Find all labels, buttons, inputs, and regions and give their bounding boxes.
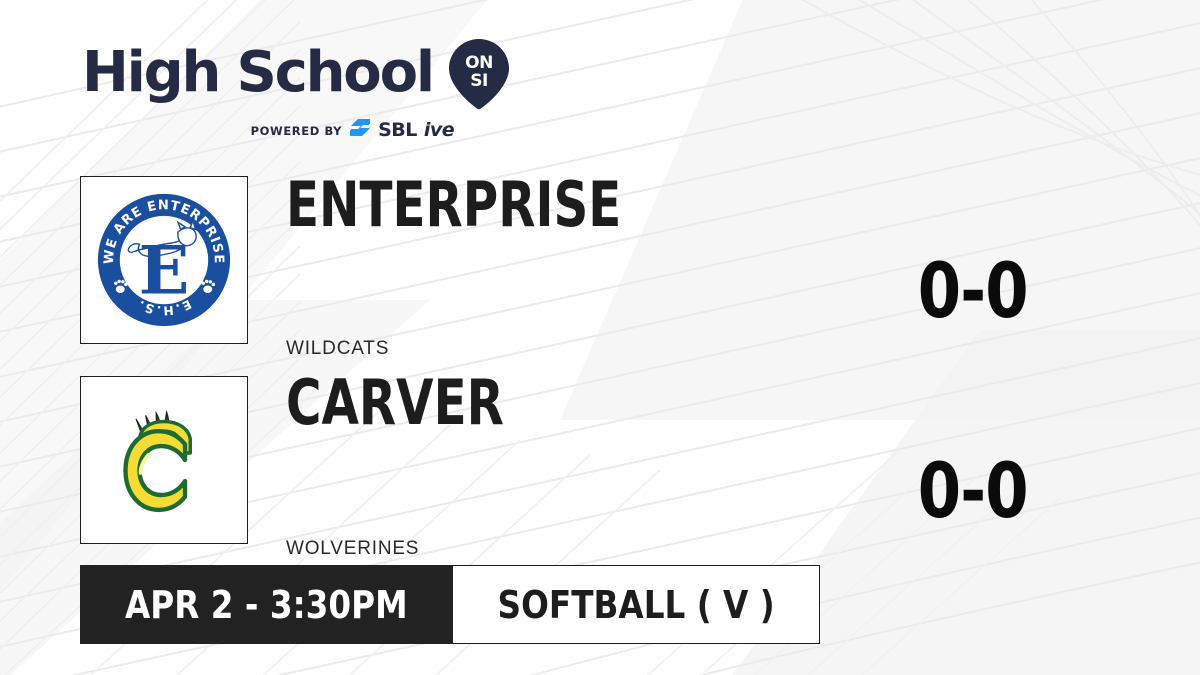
game-sport-block: SOFTBALL ( V ) xyxy=(453,565,820,644)
team-logo-box-0: WE ARE ENTERPRISE E.H.S. xyxy=(80,176,248,344)
team-record-0: 0-0 xyxy=(918,253,1025,329)
svg-text:ON: ON xyxy=(465,53,493,73)
game-sport-label: SOFTBALL ( V ) xyxy=(497,583,774,627)
game-datetime-label: APR 2 - 3:30PM xyxy=(125,583,408,627)
brand-title: High School xyxy=(82,45,433,101)
game-info-bar: APR 2 - 3:30PM SOFTBALL ( V ) xyxy=(80,565,820,644)
team-name-0: ENTERPRISE xyxy=(286,176,621,235)
on-si-pin-icon: ON SI xyxy=(447,38,511,110)
brand-title-row: High School ON SI xyxy=(82,36,511,110)
carver-wolverines-claw-c-icon xyxy=(94,390,234,530)
brand-lockup: High School ON SI POWERED BY xyxy=(82,36,511,142)
team-logo-box-1 xyxy=(80,376,248,544)
enterprise-wildcats-seal-icon: WE ARE ENTERPRISE E.H.S. xyxy=(94,190,234,330)
svg-text:SI: SI xyxy=(470,71,488,91)
powered-by-label: POWERED BY xyxy=(251,124,342,138)
powered-by-row: POWERED BY SBLive xyxy=(82,119,511,142)
team-record-1: 0-0 xyxy=(918,453,1025,529)
scoreboard-graphic: High School ON SI POWERED BY xyxy=(0,0,1200,675)
sblive-wordmark-primary: SBL xyxy=(378,121,417,140)
team-mascot-0: WILDCATS xyxy=(286,338,389,360)
sblive-s-mark-icon xyxy=(349,119,371,142)
team-name-1: CARVER xyxy=(286,374,504,433)
sblive-wordmark-secondary: ive xyxy=(424,121,454,140)
team-mascot-1: WOLVERINES xyxy=(286,538,419,560)
game-datetime-block: APR 2 - 3:30PM xyxy=(80,565,453,644)
svg-text:E: E xyxy=(139,231,190,309)
